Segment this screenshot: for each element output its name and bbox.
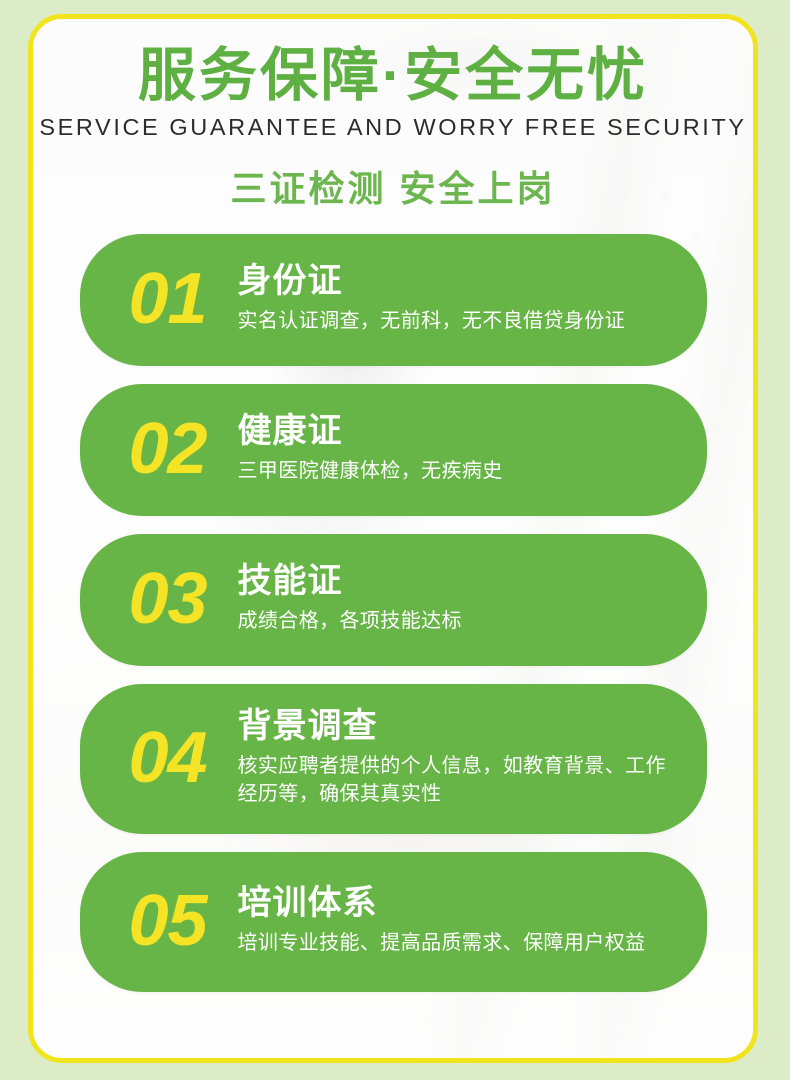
card-title: 技能证 bbox=[238, 562, 681, 600]
list-item[interactable]: 02 健康证 三甲医院健康体检，无疾病史 bbox=[80, 384, 707, 516]
card-content: 技能证 成绩合格，各项技能达标 bbox=[234, 562, 681, 635]
card-number-badge: 02 bbox=[102, 413, 234, 485]
card-number-badge: 01 bbox=[102, 263, 234, 335]
poster-frame: 服务保障·安全无忧 SERVICE GUARANTEE AND WORRY FR… bbox=[28, 14, 758, 1063]
list-item[interactable]: 03 技能证 成绩合格，各项技能达标 bbox=[80, 534, 707, 666]
card-description: 成绩合格，各项技能达标 bbox=[238, 607, 681, 635]
card-description: 核实应聘者提供的个人信息，如教育背景、工作经历等，确保其真实性 bbox=[238, 752, 681, 809]
list-item[interactable]: 05 培训体系 培训专业技能、提高品质需求、保障用户权益 bbox=[80, 852, 707, 992]
card-content: 背景调查 核实应聘者提供的个人信息，如教育背景、工作经历等，确保其真实性 bbox=[234, 707, 681, 809]
page-title-english: SERVICE GUARANTEE AND WORRY FREE SECURIT… bbox=[33, 114, 753, 141]
card-title: 背景调查 bbox=[238, 707, 681, 745]
card-number-badge: 04 bbox=[102, 722, 234, 794]
card-description: 培训专业技能、提高品质需求、保障用户权益 bbox=[238, 929, 681, 957]
page-subtitle: 三证检测 安全上岗 bbox=[33, 160, 753, 212]
list-item[interactable]: 01 身份证 实名认证调查，无前科，无不良借贷身份证 bbox=[80, 234, 707, 366]
card-content: 培训体系 培训专业技能、提高品质需求、保障用户权益 bbox=[234, 884, 681, 957]
card-content: 身份证 实名认证调查，无前科，无不良借贷身份证 bbox=[234, 262, 681, 335]
card-title: 身份证 bbox=[238, 262, 681, 300]
card-description: 实名认证调查，无前科，无不良借贷身份证 bbox=[238, 307, 681, 335]
card-content: 健康证 三甲医院健康体检，无疾病史 bbox=[234, 412, 681, 485]
poster-header: 服务保障·安全无忧 SERVICE GUARANTEE AND WORRY FR… bbox=[33, 19, 753, 212]
card-number-badge: 05 bbox=[102, 885, 234, 957]
card-title: 健康证 bbox=[238, 412, 681, 450]
guarantee-card-list: 01 身份证 实名认证调查，无前科，无不良借贷身份证 02 健康证 三甲医院健康… bbox=[33, 234, 753, 992]
card-description: 三甲医院健康体检，无疾病史 bbox=[238, 457, 681, 485]
card-number-badge: 03 bbox=[102, 563, 234, 635]
page-title: 服务保障·安全无忧 bbox=[33, 45, 753, 108]
card-title: 培训体系 bbox=[238, 884, 681, 922]
list-item[interactable]: 04 背景调查 核实应聘者提供的个人信息，如教育背景、工作经历等，确保其真实性 bbox=[80, 684, 707, 834]
